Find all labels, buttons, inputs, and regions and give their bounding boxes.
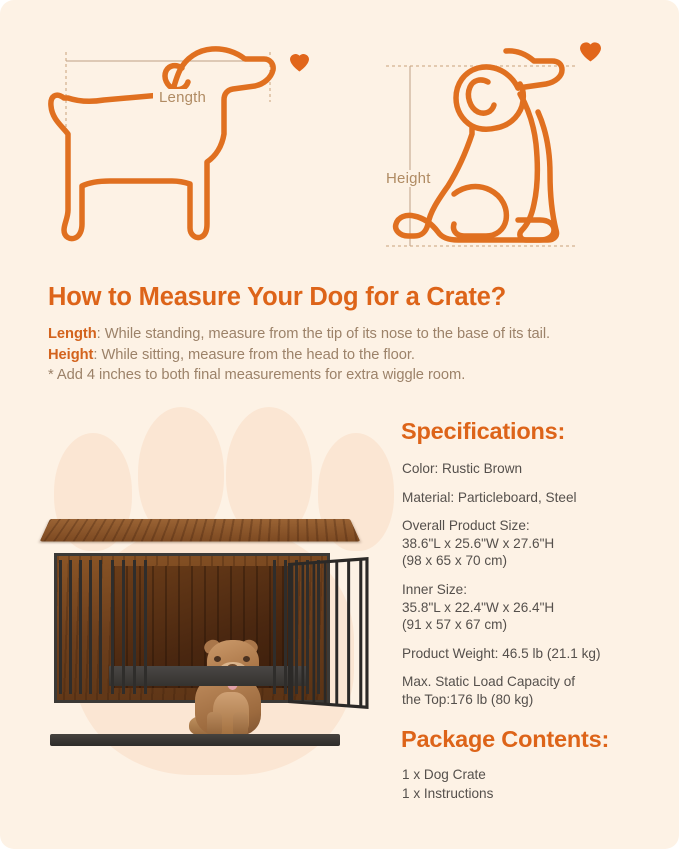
heart-icon [290,54,309,71]
height-description: : While sitting, measure from the head t… [93,347,415,363]
heart-icon [580,42,601,61]
dog-head-lower-path [472,84,523,129]
crate-tabletop [40,519,360,541]
length-diagram: Length [40,34,360,272]
spec-item-color: Color: Rustic Brown [402,460,674,478]
product-image [36,505,381,740]
height-label: Height [380,170,437,187]
spec-item-inner-size: Inner Size: 35.8"L x 22.4"W x 26.4"H (91… [402,581,674,634]
measurement-diagram-band: Length Height [0,0,679,272]
dog-eye-right [243,656,250,662]
spec-item-weight: Product Weight: 46.5 lb (21.1 kg) [402,645,674,663]
crate-bars-middle [111,560,147,694]
package-item-instructions: 1 x Instructions [402,785,674,804]
dog-body-path [51,49,273,239]
dog-haunch-path [453,187,506,236]
height-diagram: Height [368,34,658,272]
sitting-dog-outline-icon [368,34,658,272]
measure-instructions: Length: While standing, measure from the… [48,324,648,386]
package-item-crate: 1 x Dog Crate [402,766,674,785]
dog-crate-illustration [36,505,381,740]
infographic-page: Length Height [0,0,679,849]
spec-item-overall-size: Overall Product Size: 38.6"L x 25.6"W x … [402,517,674,570]
spec-item-load-capacity: Max. Static Load Capacity of the Top:176… [402,673,674,708]
measure-line-height: Height: While sitting, measure from the … [48,345,648,366]
dog-ear-path-2 [468,80,494,113]
length-term: Length [48,326,97,342]
length-description: : While standing, measure from the tip o… [97,326,550,342]
crate-bars-left [59,560,109,694]
crate-base-plinth [50,734,340,746]
standing-dog-outline-icon [40,34,360,272]
specifications-list: Color: Rustic Brown Material: Particlebo… [402,460,674,720]
specifications-heading: Specifications: [401,418,565,445]
length-label: Length [153,89,212,106]
page-title: How to Measure Your Dog for a Crate? [48,283,506,312]
package-contents-heading: Package Contents: [401,726,609,753]
dog-eye-left [214,656,221,662]
spec-item-material: Material: Particleboard, Steel [402,489,674,507]
package-contents-list: 1 x Dog Crate 1 x Instructions [402,766,674,803]
measure-line-length: Length: While standing, measure from the… [48,324,648,345]
crate-door-open [288,557,369,709]
dog-in-crate [187,634,273,738]
measure-note: * Add 4 inches to both final measurement… [48,365,648,386]
height-term: Height [48,347,93,363]
